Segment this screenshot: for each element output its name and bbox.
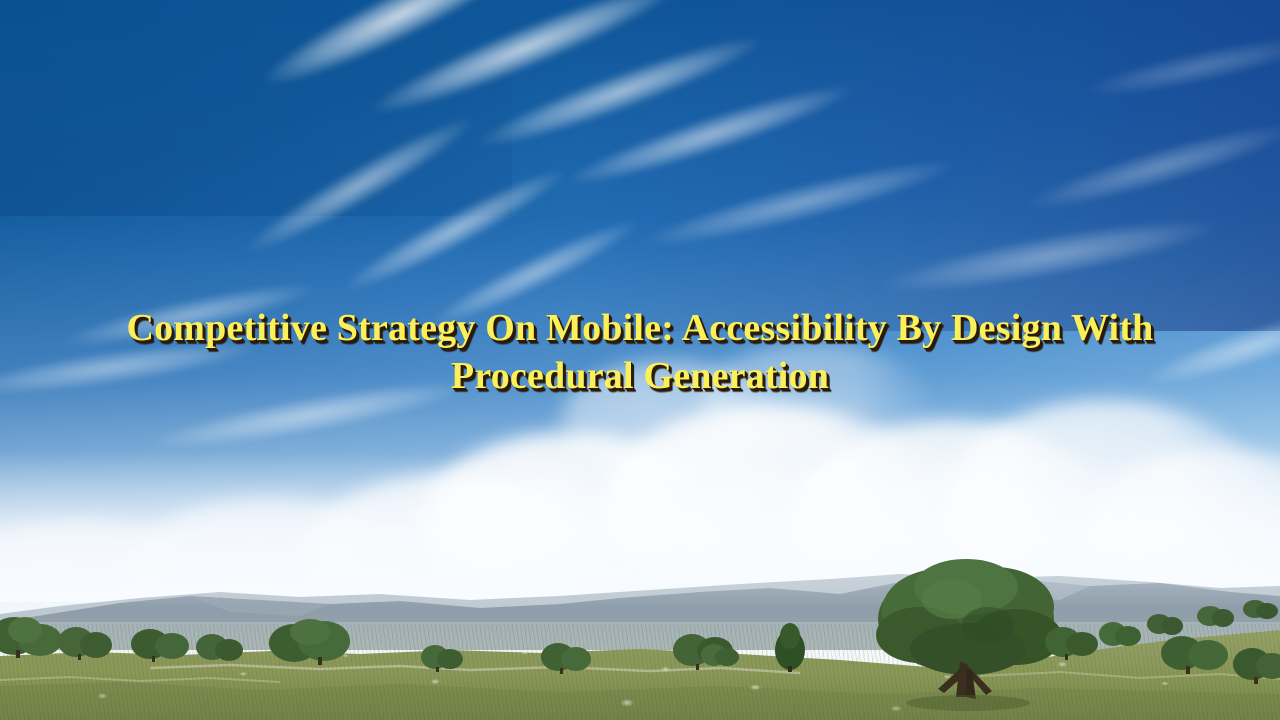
page-title: Competitive Strategy On Mobile: Accessib… [0, 304, 1280, 400]
page-title-line-2: Procedural Generation [22, 352, 1258, 400]
grass-meadow [0, 624, 1280, 720]
landscape [0, 570, 1280, 720]
hero-banner: Competitive Strategy On Mobile: Accessib… [0, 0, 1280, 720]
page-title-line-1: Competitive Strategy On Mobile: Accessib… [22, 304, 1258, 352]
